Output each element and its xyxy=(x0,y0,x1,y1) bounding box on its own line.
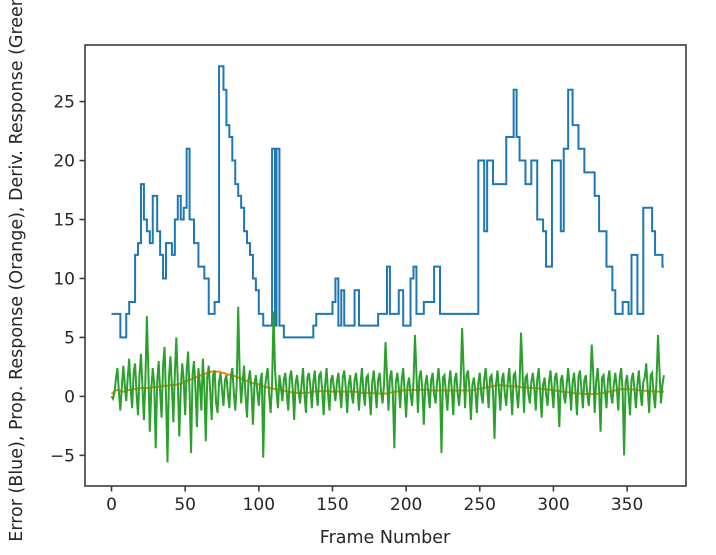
y-tick-label: 15 xyxy=(53,211,75,231)
x-tick-label: 300 xyxy=(537,495,569,515)
plot-area-background xyxy=(85,45,686,486)
y-tick-label: 5 xyxy=(64,328,75,348)
y-tick-label: 20 xyxy=(53,152,75,172)
x-tick-label: 50 xyxy=(174,495,196,515)
x-tick-label: 0 xyxy=(106,495,117,515)
x-tick-label: 150 xyxy=(316,495,348,515)
x-tick-label: 350 xyxy=(611,495,643,515)
y-axis-label: Error (Blue), Prop. Response (Orange), D… xyxy=(7,0,27,542)
matplotlib-figure: 050100150200250300350 −50510152025 Frame… xyxy=(0,0,716,555)
x-tick-label: 200 xyxy=(390,495,422,515)
y-tick-label: 10 xyxy=(53,269,75,289)
y-tick-label: −5 xyxy=(50,446,75,466)
x-tick-label: 100 xyxy=(243,495,275,515)
y-tick-label: 0 xyxy=(64,387,75,407)
chart-canvas: 050100150200250300350 −50510152025 Frame… xyxy=(0,0,716,555)
x-axis-label: Frame Number xyxy=(320,528,451,548)
x-tick-label: 250 xyxy=(464,495,496,515)
y-tick-label: 25 xyxy=(53,93,75,113)
